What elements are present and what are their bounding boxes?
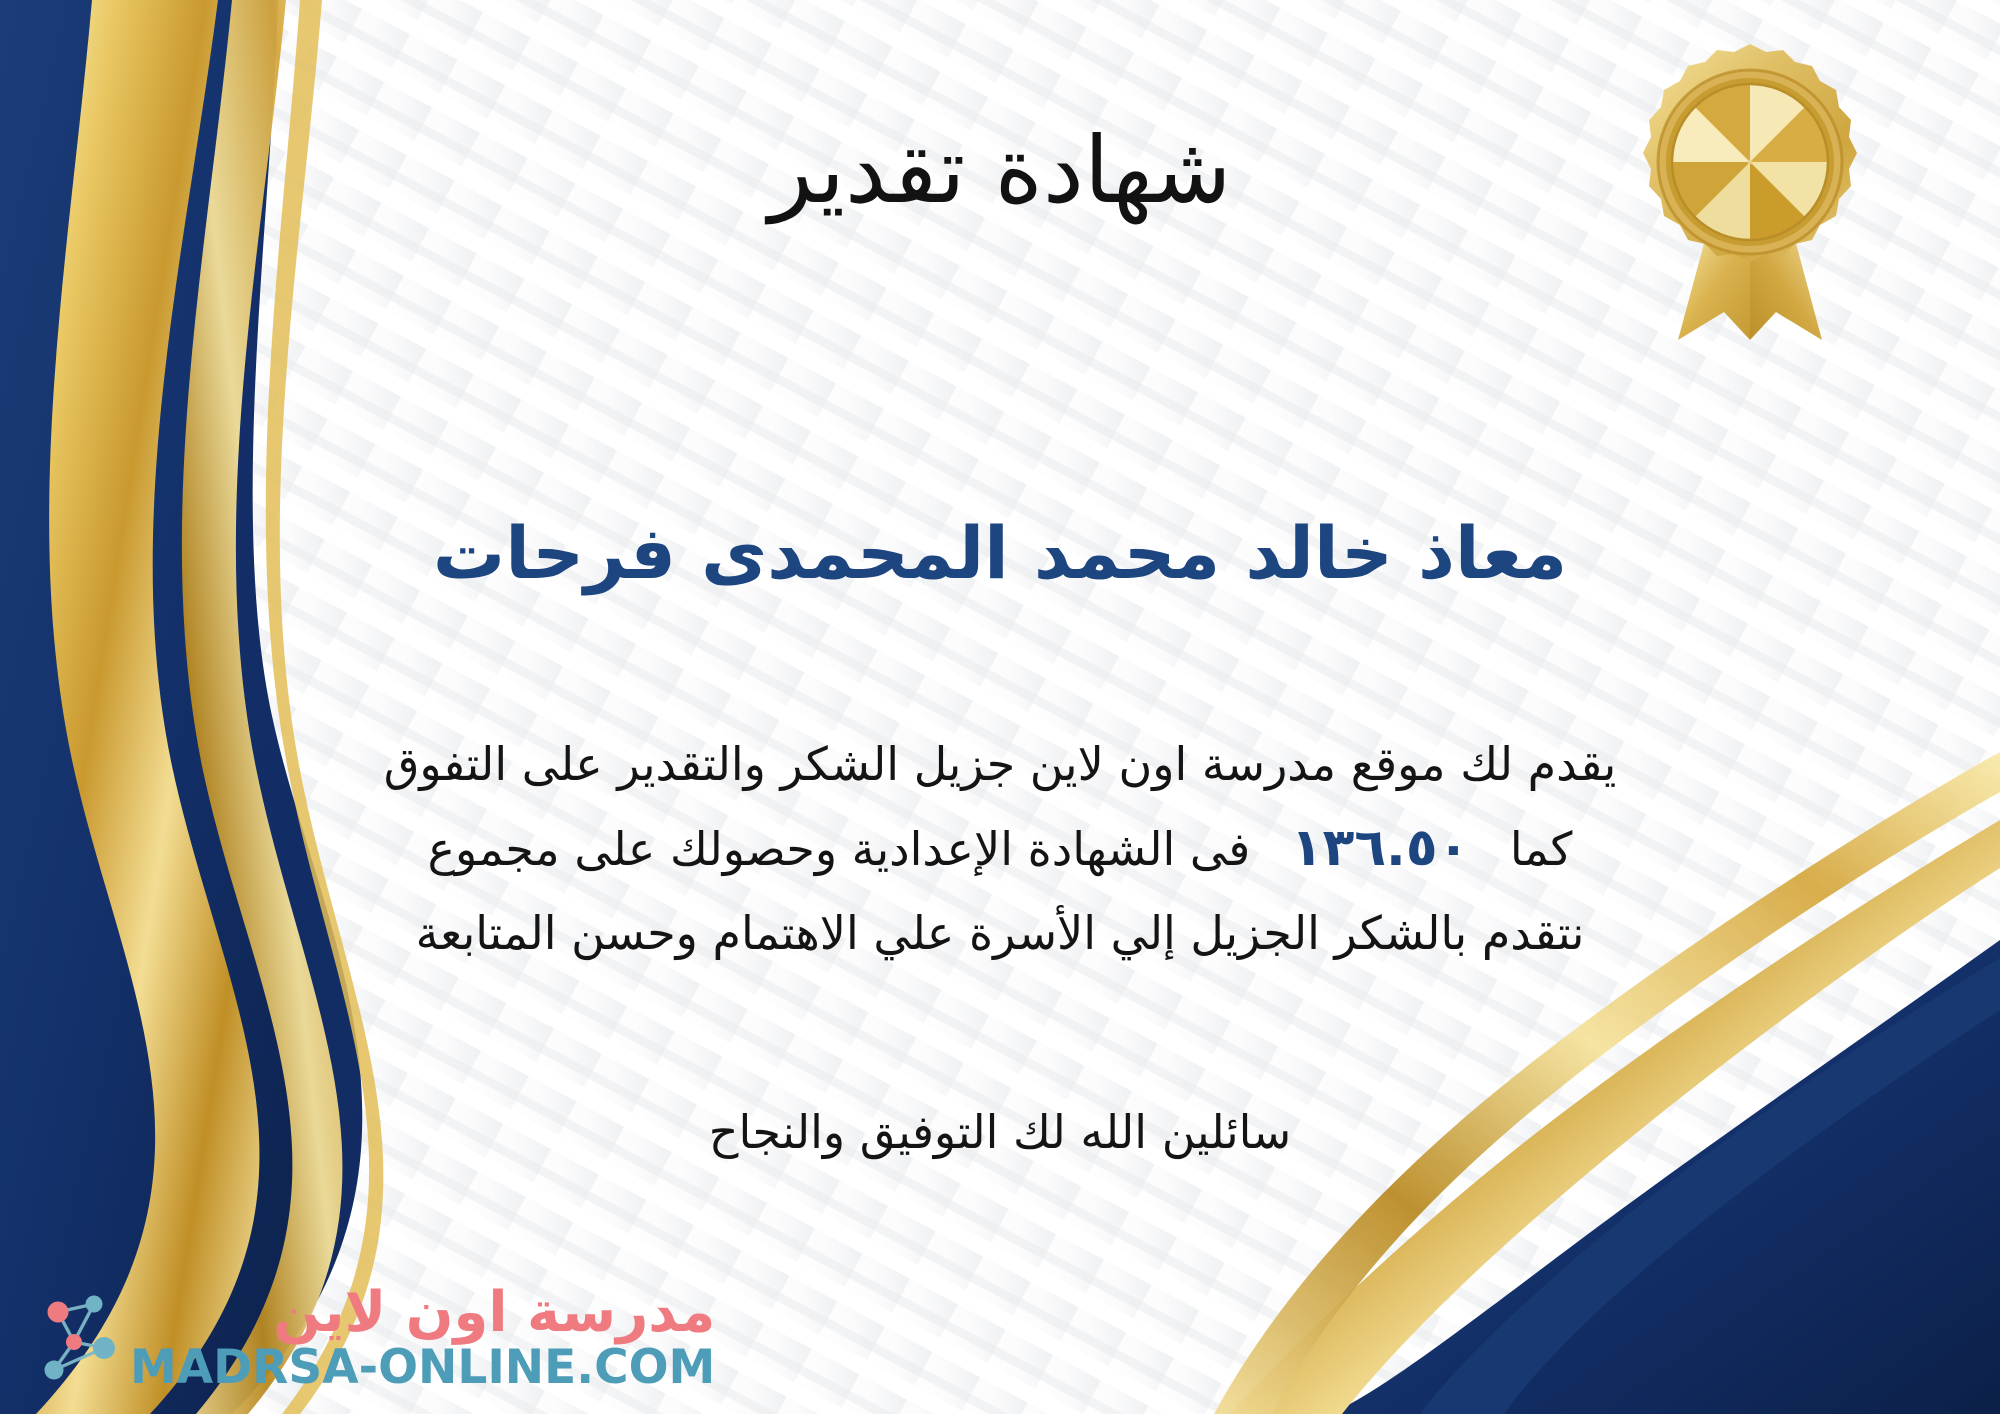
brand-name-arabic: مدرسة اون لاين — [130, 1284, 715, 1343]
certificate-body: يقدم لك موقع مدرسة اون لاين جزيل الشكر و… — [120, 725, 1880, 973]
recipient-name: معاذ خالد محمد المحمدى فرحات — [0, 508, 2000, 598]
body-line-1: يقدم لك موقع مدرسة اون لاين جزيل الشكر و… — [120, 725, 1880, 804]
body-line-2: كما ١٣٦.٥٠ فى الشهادة الإعدادية وحصولك ع… — [120, 804, 1880, 893]
score-value: ١٣٦.٥٠ — [1265, 818, 1495, 878]
brand-logo[interactable]: مدرسة اون لاين MADRSA-ONLINE.COM — [28, 1284, 715, 1392]
gold-rosette-medal-icon — [1620, 40, 1880, 340]
brand-url: MADRSA-ONLINE.COM — [130, 1343, 715, 1392]
body-line-2-prefix: فى الشهادة الإعدادية وحصولك على مجموع — [428, 822, 1251, 876]
certificate-canvas: شهادة تقدير معاذ خالد محمد المحمدى فرحات… — [0, 0, 2000, 1414]
brand-text: مدرسة اون لاين MADRSA-ONLINE.COM — [130, 1284, 715, 1392]
closing-line: سائلين الله لك التوفيق والنجاح — [0, 1105, 2000, 1159]
body-line-2-suffix: كما — [1510, 822, 1573, 876]
page-title: شهادة تقدير — [640, 118, 1360, 224]
network-nodes-icon — [28, 1286, 124, 1390]
body-line-3: نتقدم بالشكر الجزيل إلي الأسرة علي الاهت… — [120, 894, 1880, 973]
